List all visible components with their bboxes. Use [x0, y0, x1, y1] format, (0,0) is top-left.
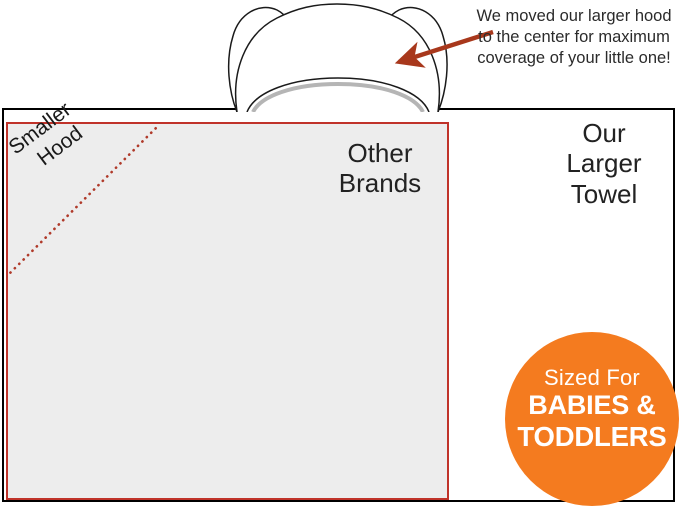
callout-text: We moved our larger hood to the center f…: [470, 6, 678, 69]
other-brands-label: Other Brands: [307, 138, 453, 198]
sized-for-badge-text: Sized For BABIES & TODDLERS: [505, 366, 679, 452]
towel-comparison-diagram: Smaller Hood Other Brands Our Larger Tow…: [0, 0, 679, 506]
badge-line-2: BABIES &: [505, 390, 679, 421]
badge-line-3: TODDLERS: [505, 421, 679, 452]
our-larger-towel-label-line1: Our: [538, 118, 670, 148]
other-brands-label-line1: Other: [307, 138, 453, 168]
our-larger-towel-label-line2: Larger: [538, 148, 670, 178]
other-brands-label-line2: Brands: [307, 168, 453, 198]
our-larger-towel-label-line3: Towel: [538, 179, 670, 209]
our-larger-towel-label: Our Larger Towel: [538, 118, 670, 209]
sized-for-badge: Sized For BABIES & TODDLERS: [505, 332, 679, 506]
badge-line-1: Sized For: [505, 366, 679, 390]
